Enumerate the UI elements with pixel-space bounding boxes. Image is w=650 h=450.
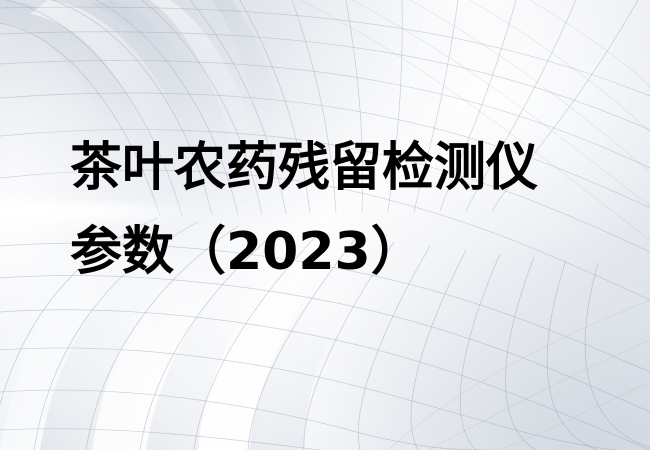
title-line-2: 参数（2023） (70, 210, 610, 294)
title-banner: 茶叶农药残留检测仪 参数（2023） (0, 0, 650, 450)
page-title: 茶叶农药残留检测仪 参数（2023） (70, 126, 610, 294)
title-line-1: 茶叶农药残留检测仪 (70, 126, 610, 210)
